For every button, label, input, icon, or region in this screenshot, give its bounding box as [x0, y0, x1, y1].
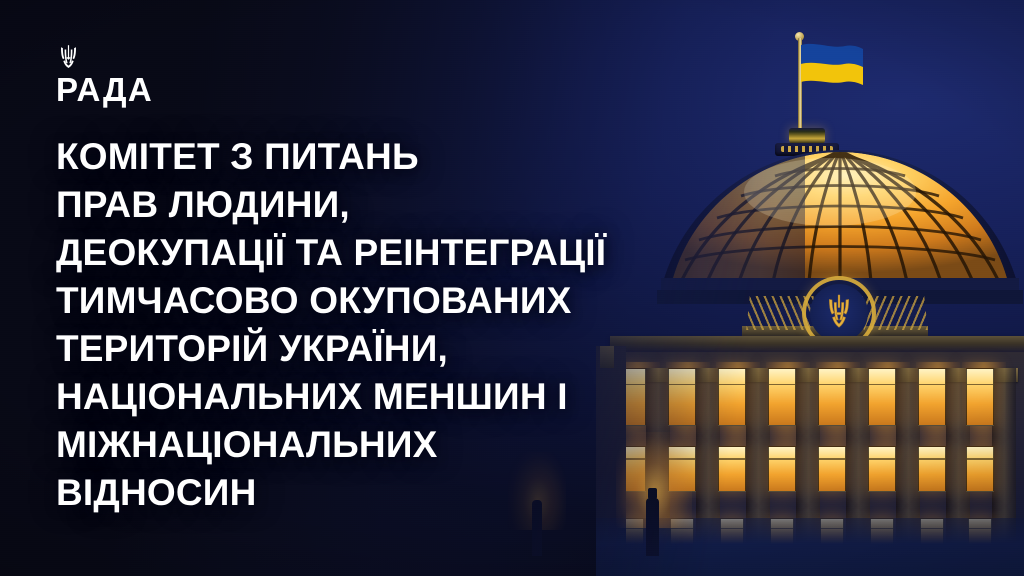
headline-line: ДЕОКУПАЦІЇ ТА РЕІНТЕГРАЦІЇ — [56, 229, 606, 277]
headline-line: НАЦІОНАЛЬНИХ МЕНШИН І — [56, 373, 606, 421]
banner-canvas: РАДА КОМІТЕТ З ПИТАНЬ ПРАВ ЛЮДИНИ, ДЕОКУ… — [0, 0, 1024, 576]
brand-lockup: РАДА — [56, 44, 153, 106]
headline-line: ВІДНОСИН — [56, 469, 606, 517]
headline-line: ТЕРИТОРІЙ УКРАЇНИ, — [56, 325, 606, 373]
headline-line: ТИМЧАСОВО ОКУПОВАНИХ — [56, 277, 606, 325]
page-title: КОМІТЕТ З ПИТАНЬ ПРАВ ЛЮДИНИ, ДЕОКУПАЦІЇ… — [56, 133, 606, 517]
headline-line: МІЖНАЦІОНАЛЬНИХ — [56, 421, 606, 469]
headline-line: КОМІТЕТ З ПИТАНЬ — [56, 133, 606, 181]
ukraine-trident-icon — [59, 44, 78, 68]
brand-wordmark: РАДА — [56, 73, 153, 106]
headline-line: ПРАВ ЛЮДИНИ, — [56, 181, 606, 229]
